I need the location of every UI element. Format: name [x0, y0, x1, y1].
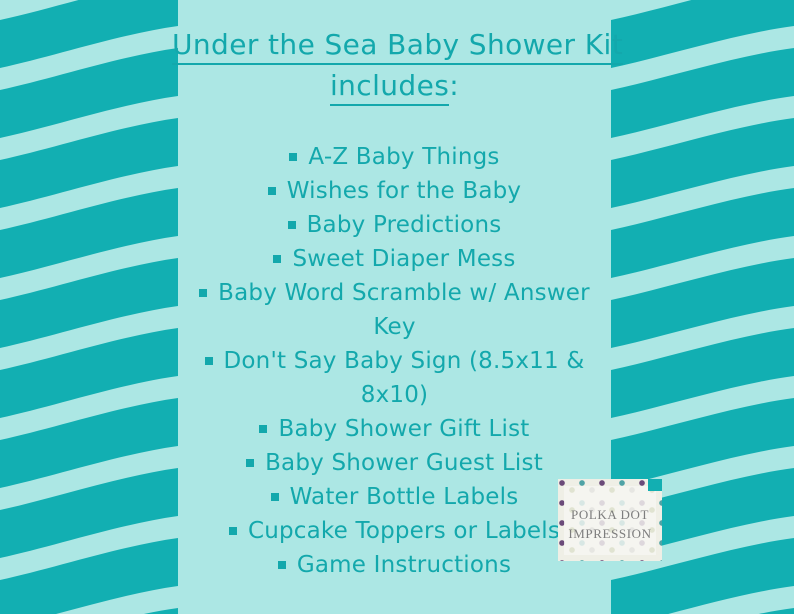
kit-contents-list: A-Z Baby Things Wishes for the Baby Baby…: [172, 140, 617, 582]
list-item-label: Baby Predictions: [307, 212, 502, 238]
bullet-square-icon: [271, 493, 279, 501]
bullet-square-icon: [259, 425, 267, 433]
list-item: A-Z Baby Things: [172, 140, 617, 174]
bullet-square-icon: [288, 221, 296, 229]
bullet-square-icon: [205, 357, 213, 365]
wavy-stripe-band-left: [0, 0, 178, 614]
list-item-label: A-Z Baby Things: [308, 144, 499, 170]
list-item: Baby Predictions: [172, 208, 617, 242]
watermark-corner-accent: [648, 479, 662, 491]
list-item: Sweet Diaper Mess: [172, 242, 617, 276]
center-panel: Under the Sea Baby Shower Kit includes: …: [178, 0, 611, 614]
poster-title-line-2: includes:: [172, 67, 617, 104]
bullet-square-icon: [199, 289, 207, 297]
list-item: Baby Shower Guest List: [172, 446, 617, 480]
list-item-label: Game Instructions: [297, 552, 511, 578]
bullet-square-icon: [273, 255, 281, 263]
bullet-square-icon: [268, 187, 276, 195]
bullet-square-icon: [229, 527, 237, 535]
bullet-square-icon: [289, 153, 297, 161]
list-item-label: Wishes for the Baby: [287, 178, 522, 204]
list-item: Wishes for the Baby: [172, 174, 617, 208]
watermark-line-2: IMPRESSION: [558, 524, 662, 543]
list-item: Baby Word Scramble w/ Answer Key: [172, 276, 617, 344]
wavy-stripes-left-graphic: [0, 0, 178, 614]
list-item-label: Don't Say Baby Sign (8.5x11 & 8x10): [224, 348, 585, 408]
list-item-label: Baby Word Scramble w/ Answer Key: [218, 280, 590, 340]
list-item: Don't Say Baby Sign (8.5x11 & 8x10): [172, 344, 617, 412]
list-item-label: Water Bottle Labels: [290, 484, 519, 510]
watermark-line-1: POLKA DOT: [558, 505, 662, 524]
poster-title-line-1-text: Under the Sea Baby Shower Kit: [172, 28, 623, 65]
list-item: Cupcake Toppers or Labels: [172, 514, 617, 548]
poster-canvas: Under the Sea Baby Shower Kit includes: …: [0, 0, 794, 614]
list-item: Game Instructions: [172, 548, 617, 582]
list-item-label: Cupcake Toppers or Labels: [248, 518, 560, 544]
bullet-square-icon: [246, 459, 254, 467]
poster-title-colon: :: [449, 69, 459, 102]
bullet-square-icon: [278, 561, 286, 569]
poster-title-includes-text: includes: [330, 69, 449, 106]
content-column: Under the Sea Baby Shower Kit includes: …: [172, 0, 617, 614]
list-item-label: Baby Shower Guest List: [265, 450, 543, 476]
list-item-label: Baby Shower Gift List: [278, 416, 529, 442]
list-item: Baby Shower Gift List: [172, 412, 617, 446]
list-item: Water Bottle Labels: [172, 480, 617, 514]
watermark-logo: POLKA DOT IMPRESSION: [558, 479, 662, 561]
watermark-text: POLKA DOT IMPRESSION: [558, 505, 662, 543]
list-item-label: Sweet Diaper Mess: [292, 246, 515, 272]
poster-title-line-1: Under the Sea Baby Shower Kit: [172, 26, 617, 63]
title-block: Under the Sea Baby Shower Kit includes:: [172, 0, 617, 104]
